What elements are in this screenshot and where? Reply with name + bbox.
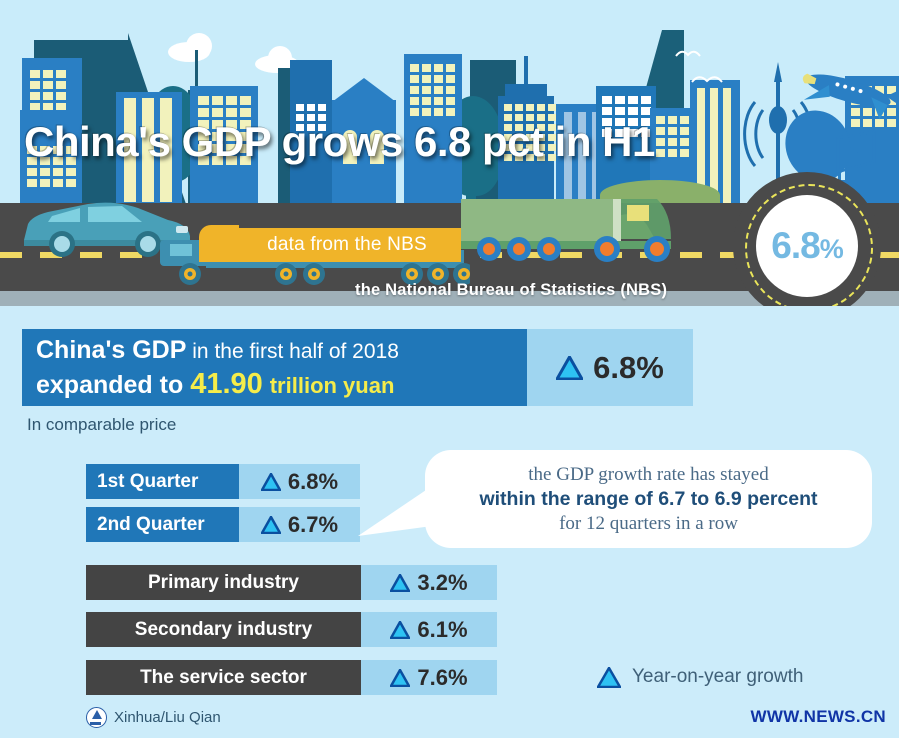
row-label: Secondary industry (86, 612, 361, 647)
nbs-data-banner: data from the NBS (233, 228, 461, 262)
bubble-line3: for 12 quarters in a row (559, 512, 738, 536)
row-label: 1st Quarter (86, 464, 239, 499)
gdp-summary-banner: China's GDP in the first half of 2018 ex… (22, 329, 693, 406)
gdp-rate-block: 6.8% (527, 329, 693, 406)
gdp-banner-line1-rest: in the first half of 2018 (192, 340, 399, 363)
credit: Xinhua/Liu Qian (86, 707, 221, 728)
up-triangle-icon (261, 516, 281, 534)
cloud-icon (268, 46, 292, 70)
cloud-icon (186, 33, 212, 59)
table-row: Primary industry 3.2% (86, 565, 497, 600)
window-grid (410, 64, 455, 116)
legend: Year-on-year growth (597, 666, 803, 688)
gdp-banner-text: China's GDP in the first half of 2018 ex… (22, 329, 527, 406)
badge-core: 6.8% (756, 195, 858, 297)
credit-label: Xinhua/Liu Qian (114, 709, 221, 726)
gdp-amount: 41.90 (190, 368, 263, 400)
badge-value: 6.8% (771, 225, 842, 267)
speech-bubble: the GDP growth rate has stayed within th… (425, 450, 872, 548)
up-triangle-icon (390, 669, 410, 687)
gdp-banner-line2: expanded to 41.90 trillion yuan (36, 367, 527, 403)
legend-label: Year-on-year growth (632, 666, 803, 688)
up-triangle-icon (556, 356, 583, 380)
hero-illustration: data from the NBS the National Bureau of… (0, 0, 899, 306)
row-value: 6.1% (361, 612, 497, 647)
gdp-unit: trillion yuan (270, 373, 395, 398)
comparable-price-note: In comparable price (27, 415, 176, 435)
row-value: 6.7% (239, 507, 360, 542)
spire-base (505, 84, 547, 98)
up-triangle-icon (390, 574, 410, 592)
up-triangle-icon (597, 667, 621, 688)
up-triangle-icon (390, 621, 410, 639)
xinhua-logo-icon (86, 707, 107, 728)
nbs-banner-label: data from the NBS (267, 234, 427, 256)
row-value: 7.6% (361, 660, 497, 695)
table-row: The service sector 7.6% (86, 660, 497, 695)
bird-icon (690, 72, 724, 86)
bubble-line2: within the range of 6.7 to 6.9 percent (479, 487, 817, 512)
table-row: Secondary industry 6.1% (86, 612, 497, 647)
row-label: Primary industry (86, 565, 361, 600)
gdp-banner-line1: China's GDP in the first half of 2018 (36, 335, 527, 367)
gdp-banner-line2-pre: expanded to (36, 371, 183, 399)
airplane-icon (797, 64, 899, 126)
page-title: China's GDP grows 6.8 pct in H1 (24, 118, 784, 166)
table-row: 2nd Quarter 6.7% (86, 507, 360, 542)
newscn-watermark: WWW.NEWS.CN (751, 707, 887, 727)
table-row: 1st Quarter 6.8% (86, 464, 360, 499)
infographic-page: data from the NBS the National Bureau of… (0, 0, 899, 738)
source-caption: the National Bureau of Statistics (NBS) (355, 281, 667, 300)
row-value: 3.2% (361, 565, 497, 600)
truck-green (461, 195, 676, 263)
up-triangle-icon (261, 473, 281, 491)
row-label: The service sector (86, 660, 361, 695)
roof-triangle (332, 78, 396, 102)
row-label: 2nd Quarter (86, 507, 239, 542)
gdp-banner-strong: China's GDP (36, 336, 186, 364)
bubble-line1: the GDP growth rate has stayed (528, 463, 768, 487)
window-grid (30, 70, 66, 111)
row-value: 6.8% (239, 464, 360, 499)
gdp-rate-value: 6.8% (593, 350, 664, 386)
bird-icon (674, 48, 702, 60)
